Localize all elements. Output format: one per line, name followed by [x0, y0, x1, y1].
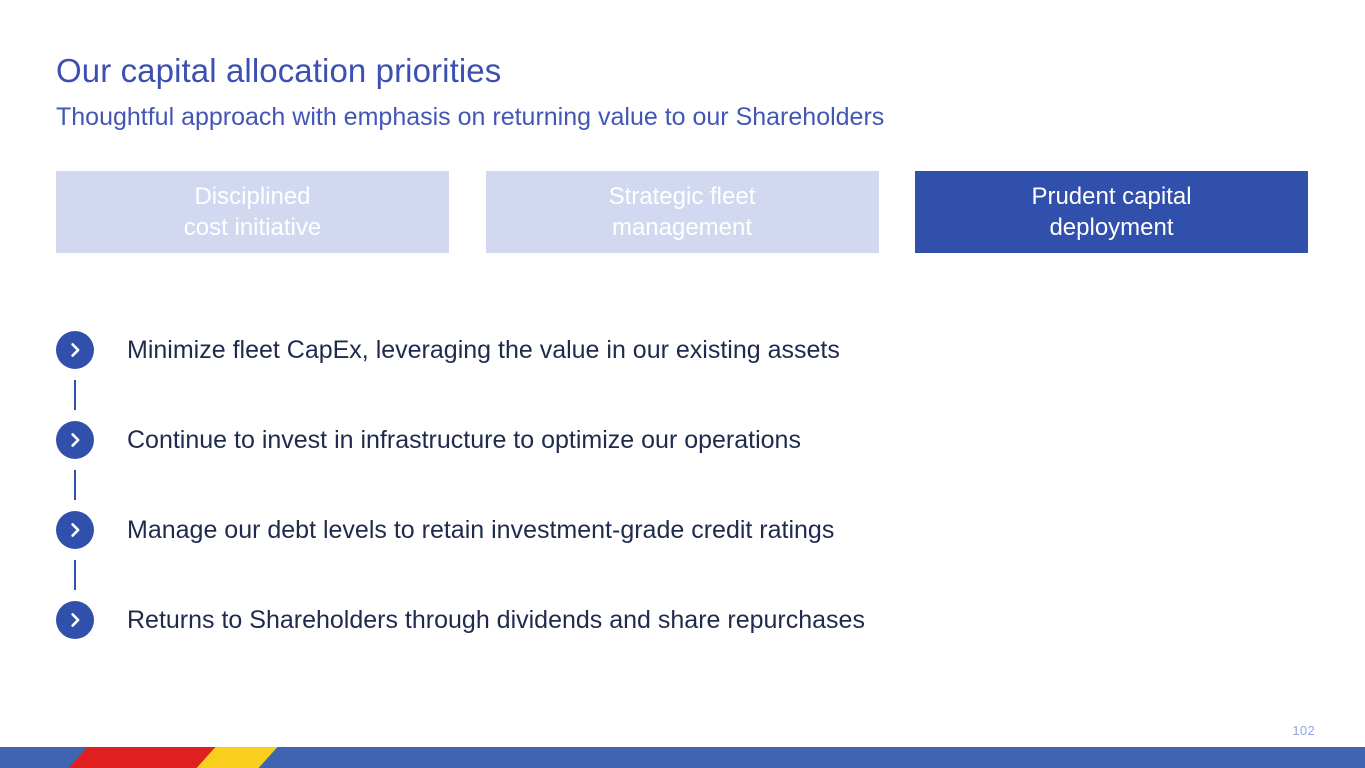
list-item: Returns to Shareholders through dividend… — [56, 600, 1306, 640]
category-box-prudent-capital-deployment[interactable]: Prudent capital deployment — [915, 171, 1308, 253]
footer-brand-stripe — [0, 747, 1365, 768]
bullet-connector-line — [56, 550, 1306, 600]
page-number: 102 — [1292, 723, 1315, 738]
bullet-list: Minimize fleet CapEx, leveraging the val… — [56, 330, 1306, 640]
page-title: Our capital allocation priorities — [56, 50, 501, 92]
chevron-right-circle-icon — [56, 331, 94, 369]
list-item-label: Minimize fleet CapEx, leveraging the val… — [127, 334, 840, 367]
list-item-label: Continue to invest in infrastructure to … — [127, 424, 801, 457]
category-box-disciplined-cost-initiative[interactable]: Disciplined cost initiative — [56, 171, 449, 253]
category-label-line2: cost initiative — [184, 212, 321, 243]
bullet-connector-line — [56, 460, 1306, 510]
category-label-line2: deployment — [1049, 212, 1173, 243]
list-item-label: Returns to Shareholders through dividend… — [127, 604, 865, 637]
category-box-strategic-fleet-management[interactable]: Strategic fleet management — [486, 171, 879, 253]
list-item-label: Manage our debt levels to retain investm… — [127, 514, 834, 547]
list-item: Continue to invest in infrastructure to … — [56, 420, 1306, 460]
category-label-line2: management — [612, 212, 752, 243]
category-label-line1: Prudent capital — [1031, 181, 1191, 212]
list-item: Manage our debt levels to retain investm… — [56, 510, 1306, 550]
page-subtitle: Thoughtful approach with emphasis on ret… — [56, 100, 884, 134]
slide-canvas: Our capital allocation priorities Though… — [0, 0, 1365, 768]
bullet-connector-line — [56, 370, 1306, 420]
chevron-right-circle-icon — [56, 601, 94, 639]
category-label-line1: Disciplined — [194, 181, 310, 212]
chevron-right-circle-icon — [56, 511, 94, 549]
category-box-row: Disciplined cost initiative Strategic fl… — [56, 171, 1308, 253]
list-item: Minimize fleet CapEx, leveraging the val… — [56, 330, 1306, 370]
chevron-right-circle-icon — [56, 421, 94, 459]
category-label-line1: Strategic fleet — [609, 181, 756, 212]
